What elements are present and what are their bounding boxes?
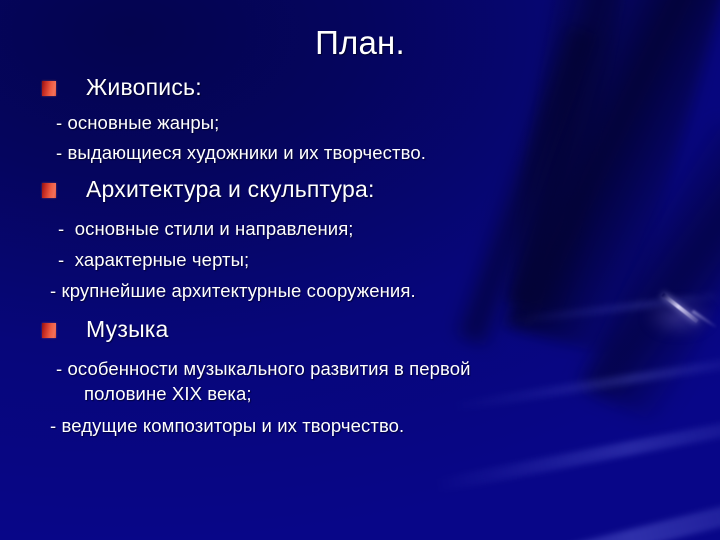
sub-bullet-item: - крупнейшие архитектурные сооружения.: [0, 279, 720, 303]
bullet-heading-row[interactable]: Живопись:: [0, 74, 720, 101]
presentation-slide: План. Живопись: - основные жанры; - выда…: [0, 0, 720, 540]
sub-bullet-item-continuation: половине XIX века;: [0, 382, 720, 406]
sub-bullet-item: - ведущие композиторы и их творчество.: [0, 414, 720, 438]
slide-content: План. Живопись: - основные жанры; - выда…: [0, 0, 720, 540]
bullet-group-painting: Живопись: - основные жанры; - выдающиеся…: [0, 74, 720, 164]
sub-bullet-item: - особенности музыкального развития в пе…: [0, 357, 720, 381]
bullet-heading-row[interactable]: Музыка: [0, 316, 720, 343]
bullet-heading-row[interactable]: Архитектура и скульптура:: [0, 176, 720, 203]
slide-body-list: Живопись: - основные жанры; - выдающиеся…: [0, 74, 720, 443]
sub-bullet-item: - характерные черты;: [0, 248, 720, 272]
red-square-bullet-icon: [42, 323, 56, 338]
sub-bullet-item: - основные жанры;: [0, 111, 720, 135]
bullet-heading-label: Архитектура и скульптура:: [86, 176, 375, 203]
bullet-heading-label: Музыка: [86, 316, 169, 343]
bullet-group-music: Музыка - особенности музыкального развит…: [0, 316, 720, 437]
sub-bullet-item: - выдающиеся художники и их творчество.: [0, 141, 720, 165]
slide-title: План.: [0, 24, 720, 62]
red-square-bullet-icon: [42, 183, 56, 198]
bullet-heading-label: Живопись:: [86, 74, 202, 101]
sub-bullet-item: - основные стили и направления;: [0, 217, 720, 241]
red-square-bullet-icon: [42, 81, 56, 96]
bullet-group-architecture: Архитектура и скульптура: - основные сти…: [0, 176, 720, 302]
